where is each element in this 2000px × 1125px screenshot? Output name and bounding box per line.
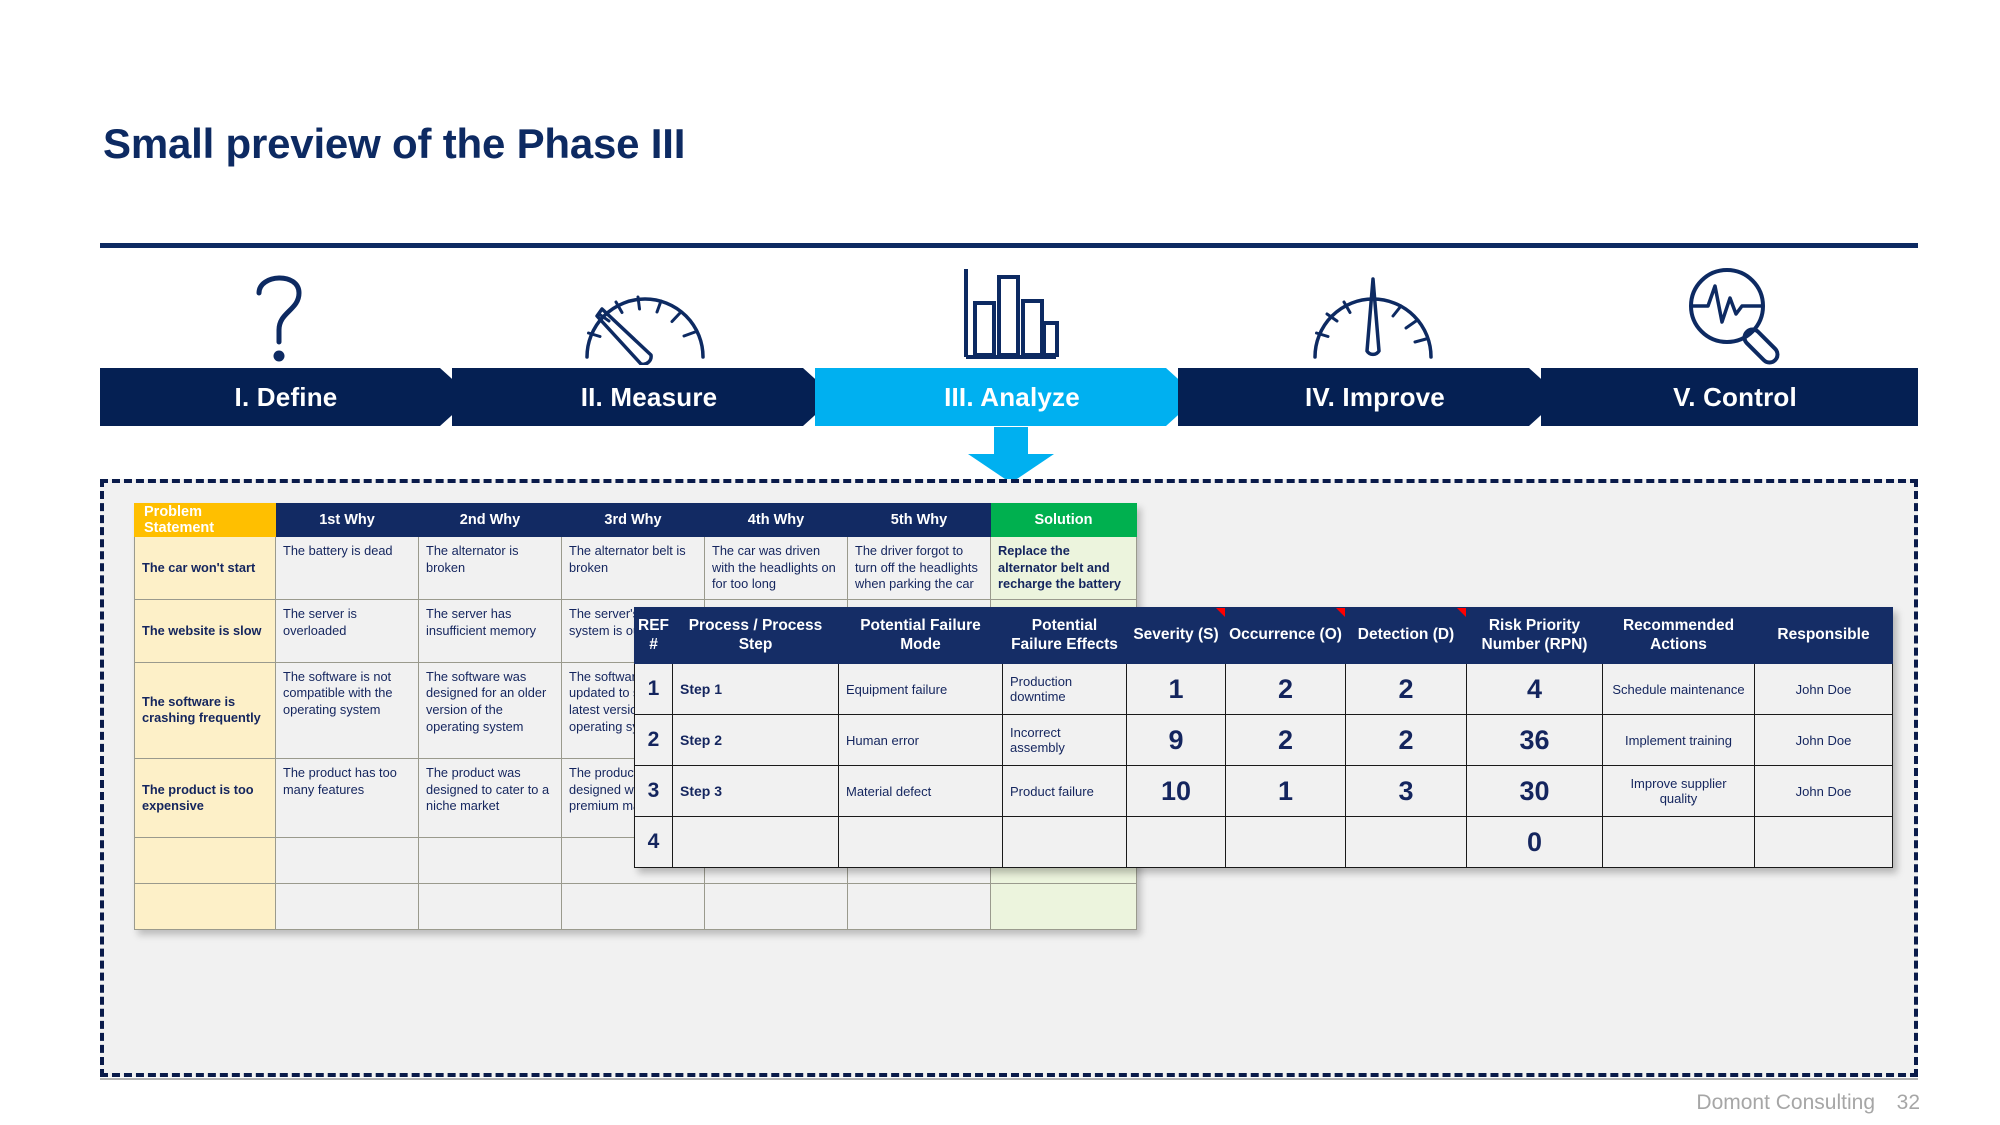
cell-rpn[interactable]: 30 (1467, 766, 1603, 817)
cell-occurrence[interactable]: 2 (1226, 715, 1346, 766)
phase-tab-analyze[interactable]: III. Analyze (826, 368, 1198, 426)
fmea-header-row: REF # Process / Process Step Potential F… (635, 608, 1893, 664)
phase-icon-improve (1191, 255, 1555, 365)
cell-problem[interactable]: The car won't start (135, 537, 276, 600)
cell-why1[interactable]: The server is overloaded (276, 599, 419, 662)
phase-icon-measure (464, 255, 828, 365)
cell-occurrence[interactable]: 2 (1226, 664, 1346, 715)
cell-failure-mode[interactable] (839, 817, 1003, 868)
cell-responsible[interactable]: John Doe (1755, 766, 1893, 817)
fmea-header-failure-mode: Potential Failure Mode (839, 608, 1003, 664)
cell-failure-mode[interactable]: Human error (839, 715, 1003, 766)
page-title: Small preview of the Phase III (103, 120, 685, 168)
table-row[interactable] (135, 884, 1137, 930)
phase-tab-control[interactable]: V. Control (1552, 368, 1918, 426)
cell-why1[interactable]: The software is not compatible with the … (276, 662, 419, 758)
cell-problem[interactable] (135, 884, 276, 930)
gauge-needle-up-icon (1303, 265, 1443, 365)
phase-content-frame: Problem Statement 1st Why 2nd Why 3rd Wh… (100, 479, 1918, 1077)
five-whys-header-why5: 5th Why (848, 504, 991, 537)
fmea-header-recommended-actions: Recommended Actions (1603, 608, 1755, 664)
phase-label-define: I. Define (235, 382, 338, 413)
cell-recommended-action[interactable]: Schedule maintenance (1603, 664, 1755, 715)
cell-failure-effect[interactable]: Product failure (1003, 766, 1127, 817)
gauge-needle-left-icon (575, 265, 715, 365)
cell-why4[interactable]: The car was driven with the headlights o… (705, 537, 848, 600)
fmea-header-failure-effects: Potential Failure Effects (1003, 608, 1127, 664)
cell-problem[interactable]: The software is crashing frequently (135, 662, 276, 758)
cell-why1[interactable] (276, 838, 419, 884)
five-whys-header-solution: Solution (991, 504, 1137, 537)
phase-label-control: V. Control (1673, 382, 1797, 413)
cell-rpn[interactable]: 0 (1467, 817, 1603, 868)
phase-icon-define (100, 255, 464, 365)
cell-recommended-action[interactable]: Improve supplier quality (1603, 766, 1755, 817)
cell-problem[interactable] (135, 838, 276, 884)
cell-solution[interactable] (991, 884, 1137, 930)
dmaic-phase-banner: I. Define II. Measure III. Analyze IV. I… (100, 368, 1918, 426)
fmea-header-responsible: Responsible (1755, 608, 1893, 664)
analyze-down-arrow-icon (968, 427, 1054, 483)
cell-solution[interactable]: Replace the alternator belt and recharge… (991, 537, 1137, 600)
five-whys-header-why4: 4th Why (705, 504, 848, 537)
table-row[interactable]: The car won't start The battery is dead … (135, 537, 1137, 600)
five-whys-header-why2: 2nd Why (419, 504, 562, 537)
fmea-table: REF # Process / Process Step Potential F… (634, 607, 1893, 868)
cell-why2[interactable]: The alternator is broken (419, 537, 562, 600)
cell-severity[interactable]: 9 (1127, 715, 1226, 766)
cell-why4[interactable] (705, 884, 848, 930)
cell-problem[interactable]: The website is slow (135, 599, 276, 662)
phase-icon-row (100, 255, 1918, 365)
cell-ref[interactable]: 4 (635, 817, 673, 868)
footer-page-number: 32 (1897, 1091, 1920, 1115)
cell-why2[interactable] (419, 884, 562, 930)
phase-tab-improve[interactable]: IV. Improve (1189, 368, 1561, 426)
cell-failure-effect[interactable] (1003, 817, 1127, 868)
cell-failure-effect[interactable]: Production downtime (1003, 664, 1127, 715)
cell-detection[interactable]: 2 (1346, 664, 1467, 715)
cell-failure-effect[interactable]: Incorrect assembly (1003, 715, 1127, 766)
cell-occurrence[interactable]: 1 (1226, 766, 1346, 817)
five-whys-header-why1: 1st Why (276, 504, 419, 537)
cell-rpn[interactable]: 36 (1467, 715, 1603, 766)
fmea-header-rpn: Risk Priority Number (RPN) (1467, 608, 1603, 664)
table-row[interactable]: 2 Step 2 Human error Incorrect assembly … (635, 715, 1893, 766)
cell-why3[interactable]: The alternator belt is broken (562, 537, 705, 600)
cell-severity[interactable]: 10 (1127, 766, 1226, 817)
five-whys-header-row: Problem Statement 1st Why 2nd Why 3rd Wh… (135, 504, 1137, 537)
phase-icon-control (1554, 255, 1918, 365)
phase-label-analyze: III. Analyze (944, 382, 1080, 413)
cell-ref[interactable]: 2 (635, 715, 673, 766)
cell-responsible[interactable] (1755, 817, 1893, 868)
cell-detection[interactable]: 2 (1346, 715, 1467, 766)
cell-ref[interactable]: 3 (635, 766, 673, 817)
cell-responsible[interactable]: John Doe (1755, 715, 1893, 766)
cell-why1[interactable] (276, 884, 419, 930)
cell-severity[interactable] (1127, 817, 1226, 868)
fmea-header-process-step: Process / Process Step (673, 608, 839, 664)
five-whys-header-problem: Problem Statement (135, 504, 276, 537)
phase-icon-analyze (827, 255, 1191, 365)
table-row[interactable]: 3 Step 3 Material defect Product failure… (635, 766, 1893, 817)
cell-detection[interactable] (1346, 817, 1467, 868)
cell-why2[interactable]: The server has insufficient memory (419, 599, 562, 662)
question-mark-icon (237, 260, 327, 365)
bar-chart-icon (956, 265, 1061, 365)
cell-process-step[interactable]: Step 2 (673, 715, 839, 766)
footer-divider (100, 1078, 1918, 1080)
cell-why5[interactable] (848, 884, 991, 930)
cell-why5[interactable]: The driver forgot to turn off the headli… (848, 537, 991, 600)
cell-problem[interactable]: The product is too expensive (135, 758, 276, 838)
cell-responsible[interactable]: John Doe (1755, 664, 1893, 715)
cell-detection[interactable]: 3 (1346, 766, 1467, 817)
phase-label-improve: IV. Improve (1305, 382, 1445, 413)
fmea-header-detection: Detection (D) (1346, 608, 1467, 664)
cell-ref[interactable]: 1 (635, 664, 673, 715)
cell-recommended-action[interactable] (1603, 817, 1755, 868)
cell-process-step[interactable] (673, 817, 839, 868)
table-row[interactable]: 1 Step 1 Equipment failure Production do… (635, 664, 1893, 715)
phase-tab-define[interactable]: I. Define (100, 368, 472, 426)
cell-why1[interactable]: The product has too many features (276, 758, 419, 838)
footer-company-name: Domont Consulting (1696, 1091, 1875, 1115)
cell-why2[interactable]: The software was designed for an older v… (419, 662, 562, 758)
cell-why3[interactable] (562, 884, 705, 930)
cell-failure-mode[interactable]: Equipment failure (839, 664, 1003, 715)
cell-why2[interactable] (419, 838, 562, 884)
table-row[interactable]: 4 0 (635, 817, 1893, 868)
fmea-header-severity: Severity (S) (1127, 608, 1226, 664)
cell-recommended-action[interactable]: Implement training (1603, 715, 1755, 766)
cell-process-step[interactable]: Step 3 (673, 766, 839, 817)
title-divider (100, 243, 1918, 248)
fmea-header-ref: REF # (635, 608, 673, 664)
cell-why2[interactable]: The product was designed to cater to a n… (419, 758, 562, 838)
magnifier-pulse-icon (1679, 260, 1794, 365)
fmea-header-occurrence: Occurrence (O) (1226, 608, 1346, 664)
cell-failure-mode[interactable]: Material defect (839, 766, 1003, 817)
cell-severity[interactable]: 1 (1127, 664, 1226, 715)
phase-label-measure: II. Measure (581, 382, 718, 413)
cell-occurrence[interactable] (1226, 817, 1346, 868)
cell-process-step[interactable]: Step 1 (673, 664, 839, 715)
five-whys-header-why3: 3rd Why (562, 504, 705, 537)
cell-why1[interactable]: The battery is dead (276, 537, 419, 600)
phase-tab-measure[interactable]: II. Measure (463, 368, 835, 426)
cell-rpn[interactable]: 4 (1467, 664, 1603, 715)
